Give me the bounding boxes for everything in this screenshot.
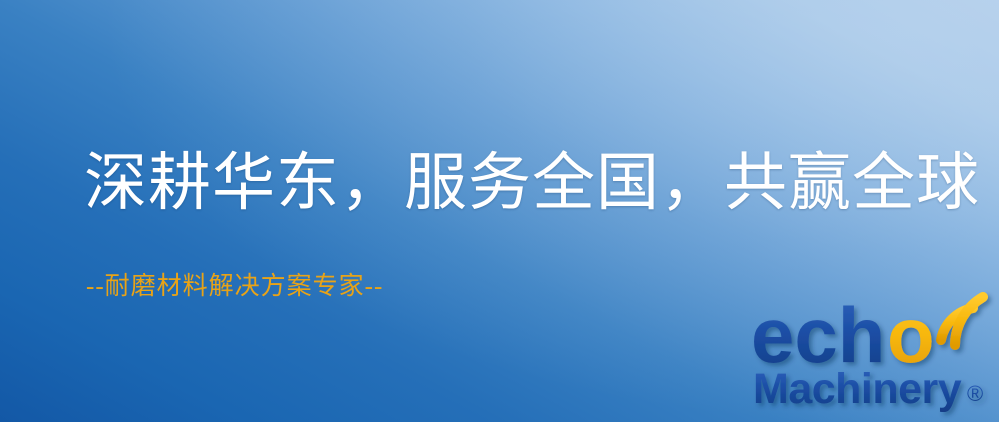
company-logo[interactable]: ech o Machinery ® — [745, 288, 999, 422]
page-title: 深耕华东，服务全国，共赢全球 — [84, 152, 980, 215]
wave-arcs-icon — [941, 297, 983, 345]
registered-mark-icon: ® — [967, 381, 983, 406]
hero-banner: 深耕华东，服务全国，共赢全球 --耐磨材料解决方案专家-- — [0, 0, 999, 422]
logo-tagline: Machinery ® — [753, 365, 983, 413]
logo-tagline-text: Machinery — [753, 365, 962, 413]
page-subtitle: --耐磨材料解决方案专家-- — [86, 266, 383, 302]
